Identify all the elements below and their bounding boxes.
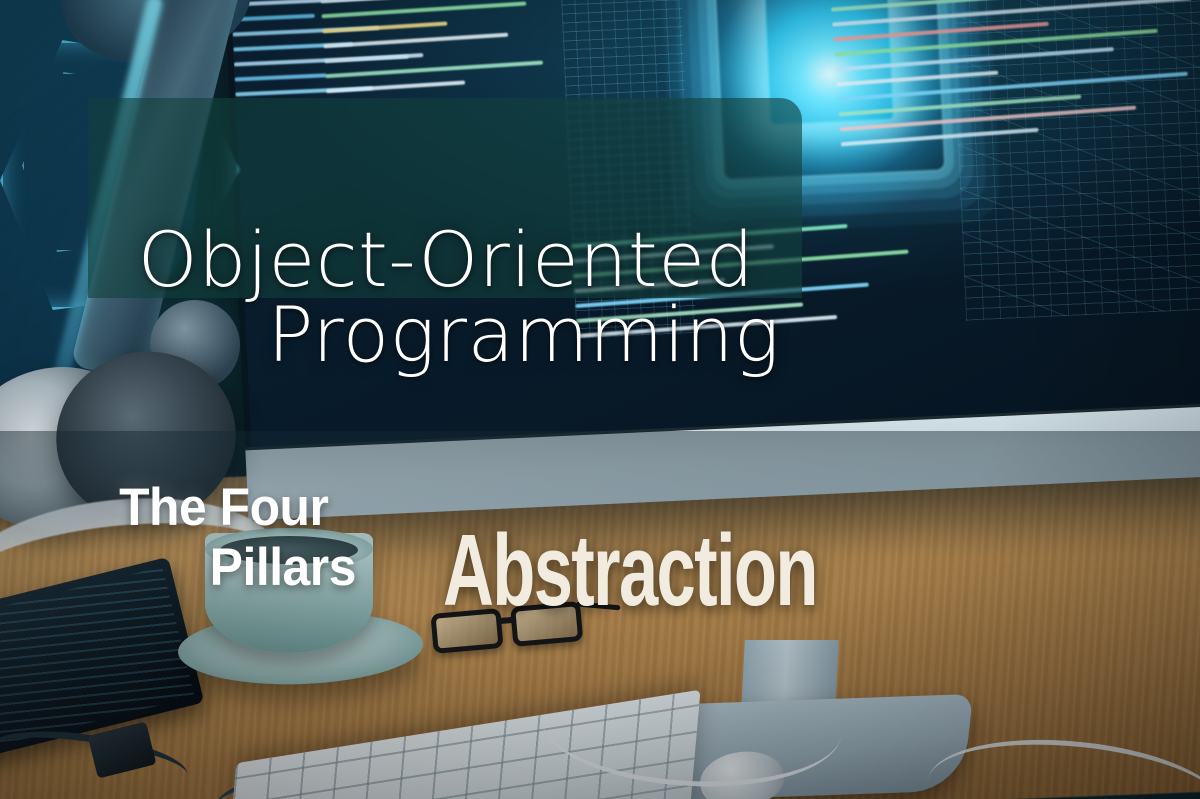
feature-word-abstraction: Abstraction <box>443 520 817 621</box>
subtitle-line-1: The Four <box>104 478 356 538</box>
title-line-2: Programming <box>96 298 796 372</box>
subtitle-four-pillars: The Four Pillars <box>104 478 356 599</box>
code-column-right <box>825 0 1200 157</box>
banner-stage: Object-Oriented Programming The Four Pil… <box>0 0 1200 799</box>
subtitle-line-2: Pillars <box>104 538 356 598</box>
page-title: Object-Oriented Programming <box>96 149 796 447</box>
